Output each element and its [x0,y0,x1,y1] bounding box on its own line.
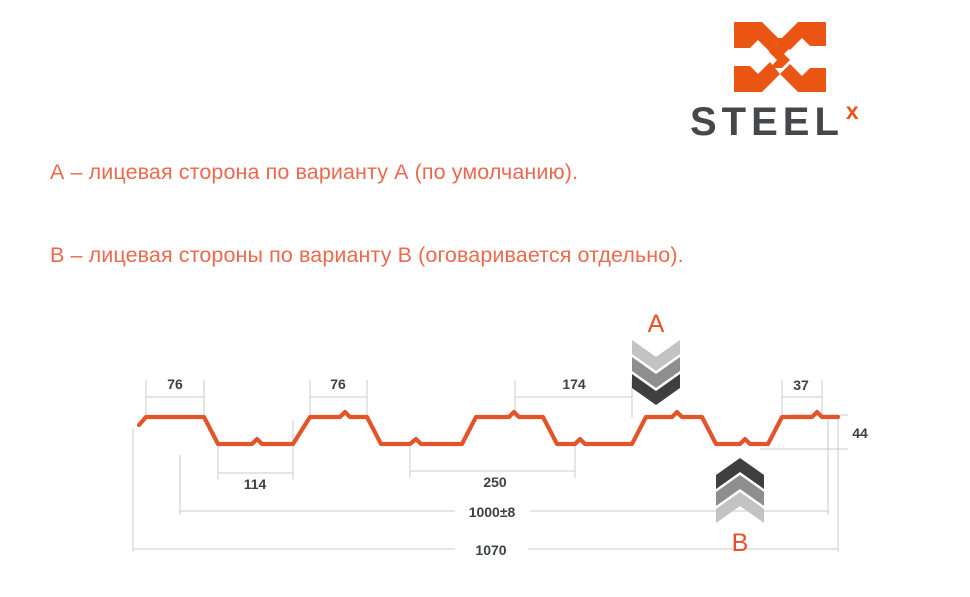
dim-label-114: 114 [244,476,267,492]
dim-label-37: 37 [793,377,809,393]
side-marker-a: A [632,310,680,405]
side-marker-b-letter: B [732,529,749,557]
dim-label-44: 44 [852,425,868,441]
dim-label-1070: 1070 [475,542,506,558]
dim-label-76-left: 76 [167,376,183,392]
trapezoid-profile-path [139,412,838,444]
side-marker-a-letter: A [648,310,665,338]
dim-label-174: 174 [562,376,586,392]
dim-label-1000: 1000±8 [469,504,516,520]
dimension-labels: 76 76 114 250 174 37 44 1000±8 1070 [167,376,868,558]
side-marker-b: B [716,458,764,557]
dim-label-250: 250 [483,474,507,490]
chevron-up-icon [716,458,764,523]
chevron-down-icon [632,340,680,405]
profile-technical-drawing: 76 76 114 250 174 37 44 1000±8 1070 A B [0,0,970,597]
dim-label-76-mid: 76 [330,376,346,392]
